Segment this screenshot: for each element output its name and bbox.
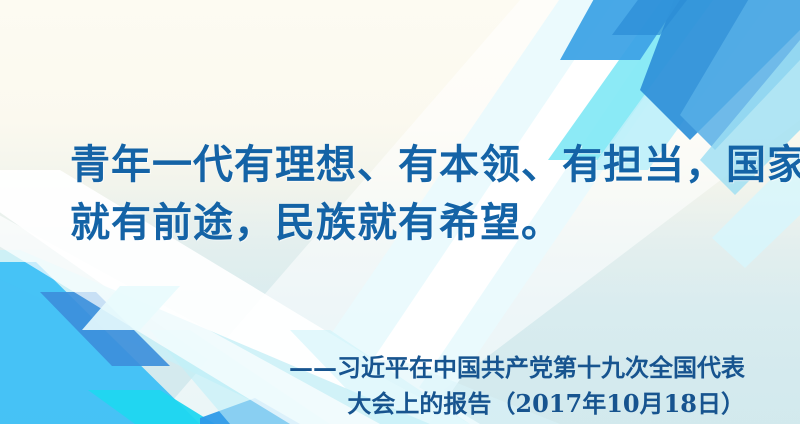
tile-blue-top	[560, 0, 700, 60]
band-deep-blue-b	[680, 0, 800, 150]
attribution-line-1: ——习近平在中国共产党第十九次全国代表	[125, 350, 745, 386]
tile-blue-top-overlap	[612, 0, 710, 35]
headline-quote: 青年一代有理想、有本领、有担当，国家 就有前途，民族就有希望。	[70, 136, 760, 252]
tile-pale-left	[82, 286, 180, 330]
headline-line-2: 就有前途，民族就有希望。	[70, 194, 760, 252]
bottom-white-strip	[0, 424, 800, 438]
band-deep-blue-a	[640, 0, 800, 140]
headline-line-1: 青年一代有理想、有本领、有担当，国家	[70, 136, 760, 194]
attribution-line-2: 大会上的报告（2017年10月18日）	[125, 386, 745, 422]
quote-poster: 青年一代有理想、有本领、有担当，国家 就有前途，民族就有希望。 ——习近平在中国…	[0, 0, 800, 438]
attribution-source: ——习近平在中国共产党第十九次全国代表 大会上的报告（2017年10月18日）	[125, 350, 745, 422]
